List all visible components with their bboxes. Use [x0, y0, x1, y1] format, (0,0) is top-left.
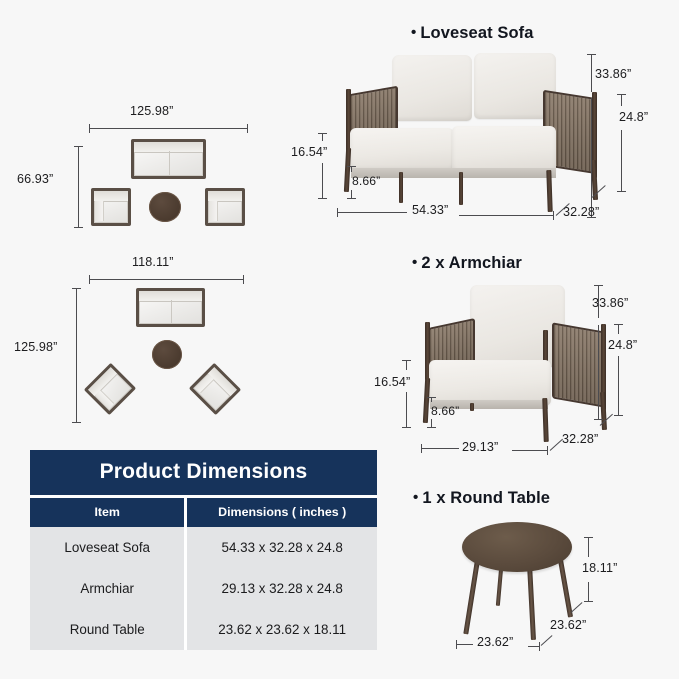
layout1-width-cap-left — [89, 124, 90, 133]
row-item-loveseat: Loveseat Sofa — [30, 527, 184, 568]
loveseat-heading: •Loveseat Sofa — [411, 24, 534, 43]
loveseat-width-label: 54.33” — [412, 203, 448, 217]
table-row: Round Table 23.62 x 23.62 x 18.11 — [30, 609, 377, 650]
loveseat-total-height-cap-top — [587, 54, 596, 55]
armchair-width-line-right — [512, 450, 548, 451]
round-table-width-line-left — [456, 644, 473, 645]
armchair-width-cap-left — [421, 444, 422, 453]
loveseat-width-line-right — [459, 215, 554, 216]
loveseat-total-height-line-bottom — [591, 98, 592, 218]
round-table-width-cap-right — [539, 642, 540, 651]
armchair-back-height-cap-bottom — [614, 415, 623, 416]
armchair-back-height-label: 24.8” — [608, 338, 637, 352]
loveseat-seat-height-line-bottom — [322, 163, 323, 199]
layout1-depth-label: 66.93” — [17, 172, 53, 186]
loveseat-seat-left — [350, 128, 454, 172]
loveseat-leg-mid-left — [399, 172, 403, 203]
plan2-armchair-left — [84, 363, 136, 415]
layout2-depth-line — [76, 288, 77, 423]
armchair-back-height-line-bottom — [618, 356, 619, 416]
loveseat-back-height-label: 24.8” — [619, 110, 648, 124]
round-table-height-label: 18.11” — [582, 561, 617, 575]
round-table-height-line-top — [588, 537, 589, 557]
round-table-leg-back-left — [463, 560, 480, 635]
row-item-round-table: Round Table — [30, 609, 184, 650]
armchair-clearance-cap-bottom — [427, 427, 436, 428]
loveseat-leg-mid-right — [459, 172, 463, 205]
round-table-height-line-bottom — [588, 582, 589, 602]
loveseat-clearance-cap-bottom — [347, 198, 356, 199]
product-dimensions-table: Product Dimensions Item Dimensions ( inc… — [30, 450, 377, 650]
row-dims-loveseat: 54.33 x 32.28 x 24.8 — [184, 527, 377, 568]
plan1-armchair-right — [205, 188, 245, 226]
armchair-seat-height-label: 16.54” — [374, 375, 410, 389]
loveseat-back-height-cap-bottom — [617, 191, 626, 192]
layout2-depth-cap-top — [72, 288, 81, 289]
round-table-depth-arrow-lower — [541, 635, 553, 646]
loveseat-back-cushion-left — [392, 55, 472, 121]
round-table-height-cap-bottom — [584, 601, 593, 602]
loveseat-width-line-left — [337, 212, 407, 213]
armchair-heading-label: 2 x Armchiar — [421, 254, 522, 272]
loveseat-seat-height-label: 16.54” — [291, 145, 327, 159]
layout2-width-cap-right — [243, 275, 244, 284]
round-table-heading: •1 x Round Table — [413, 489, 550, 508]
armchair-width-label: 29.13” — [462, 440, 498, 454]
armchair-back-height-line-top — [618, 324, 619, 334]
round-table-height-cap-top — [584, 537, 593, 538]
armchair-seat-height-line-top — [406, 360, 407, 370]
loveseat-clearance-cap-top — [347, 166, 356, 167]
armchair-total-height-line-top — [598, 285, 599, 318]
armchair-total-height-cap-top — [594, 285, 603, 286]
table-header-item: Item — [30, 498, 184, 527]
row-item-armchair: Armchiar — [30, 568, 184, 609]
armchair-depth-arrow-lower — [550, 439, 563, 451]
round-table-top — [462, 522, 572, 572]
armchair-seat-height-cap-bottom — [402, 427, 411, 428]
armchair-seat-height-line-bottom — [406, 392, 407, 428]
loveseat-seat-height-line-top — [322, 133, 323, 141]
round-table-depth-label: 23.62” — [550, 618, 586, 632]
armchair-back-height-cap-top — [614, 324, 623, 325]
loveseat-depth-label: 32.28” — [563, 205, 599, 219]
loveseat-apron — [351, 168, 556, 178]
loveseat-width-cap-left — [337, 208, 338, 217]
loveseat-seat-right — [452, 126, 556, 174]
armchair-total-height-line-bottom — [598, 325, 599, 420]
table-title: Product Dimensions — [30, 450, 377, 495]
loveseat-total-height-label: 33.86” — [595, 67, 631, 81]
armchair-width-cap-right — [547, 446, 548, 455]
armchair-depth-label: 32.28” — [562, 432, 598, 446]
plan2-armchair-right — [189, 363, 241, 415]
round-table-width-label: 23.62” — [477, 635, 513, 649]
armchair-seat-height-cap-top — [402, 360, 411, 361]
plan2-loveseat — [136, 288, 205, 327]
bullet-icon: • — [412, 254, 417, 271]
layout1-width-label: 125.98” — [130, 104, 173, 118]
layout1-depth-cap-top — [74, 146, 83, 147]
bullet-icon: • — [411, 24, 416, 41]
armchair-total-height-cap-bottom — [594, 419, 603, 420]
loveseat-back-height-line-top — [621, 94, 622, 106]
round-table-depth-arrow-upper — [571, 602, 583, 613]
layout2-depth-cap-bottom — [72, 422, 81, 423]
round-table-leg-front — [527, 564, 536, 640]
table-body: Loveseat Sofa 54.33 x 32.28 x 24.8 Armch… — [30, 527, 377, 650]
table-header-row: Item Dimensions ( inches ) — [30, 498, 377, 527]
plan1-armchair-left — [91, 188, 131, 226]
table-row: Armchiar 29.13 x 32.28 x 24.8 — [30, 568, 377, 609]
loveseat-back-height-cap-top — [617, 94, 626, 95]
plan2-round-table — [152, 340, 182, 369]
row-dims-armchair: 29.13 x 32.28 x 24.8 — [184, 568, 377, 609]
row-dims-round-table: 23.62 x 23.62 x 18.11 — [184, 609, 377, 650]
loveseat-width-cap-right — [553, 211, 554, 220]
plan1-round-table — [149, 192, 181, 222]
loveseat-heading-label: Loveseat Sofa — [420, 24, 533, 42]
plan1-loveseat — [131, 139, 206, 179]
layout2-width-line — [89, 279, 244, 280]
layout1-width-line — [89, 128, 248, 129]
loveseat-back-height-line-bottom — [621, 130, 622, 192]
layout1-depth-line — [78, 146, 79, 228]
layout2-width-label: 118.11” — [132, 255, 174, 269]
loveseat-seat-height-cap-bottom — [318, 198, 327, 199]
layout1-width-cap-right — [247, 124, 248, 133]
armchair-back-cushion — [470, 285, 565, 367]
loveseat-clearance-label: 8.66” — [352, 174, 380, 188]
table-header-dimensions: Dimensions ( inches ) — [184, 498, 377, 527]
table-row: Loveseat Sofa 54.33 x 32.28 x 24.8 — [30, 527, 377, 568]
round-table-width-cap-left — [456, 640, 457, 649]
loveseat-seat-height-cap-top — [318, 133, 327, 134]
layout2-depth-label: 125.98” — [14, 340, 57, 354]
layout2-width-cap-left — [89, 275, 90, 284]
round-table-heading-label: 1 x Round Table — [422, 489, 550, 507]
layout1-depth-cap-bottom — [74, 227, 83, 228]
armchair-width-line-left — [421, 448, 459, 449]
armchair-heading: •2 x Armchiar — [412, 254, 522, 273]
loveseat-total-height-line-top — [591, 54, 592, 92]
bullet-icon: • — [413, 489, 418, 506]
product-dimensions-infographic: 125.98” 66.93” 118.11” 125.98” Product D… — [0, 0, 679, 679]
armchair-leg-center-stub — [470, 403, 474, 411]
armchair-clearance-label: 8.66” — [431, 404, 459, 418]
round-table-leg-right — [558, 560, 573, 618]
armchair-clearance-cap-top — [427, 397, 436, 398]
